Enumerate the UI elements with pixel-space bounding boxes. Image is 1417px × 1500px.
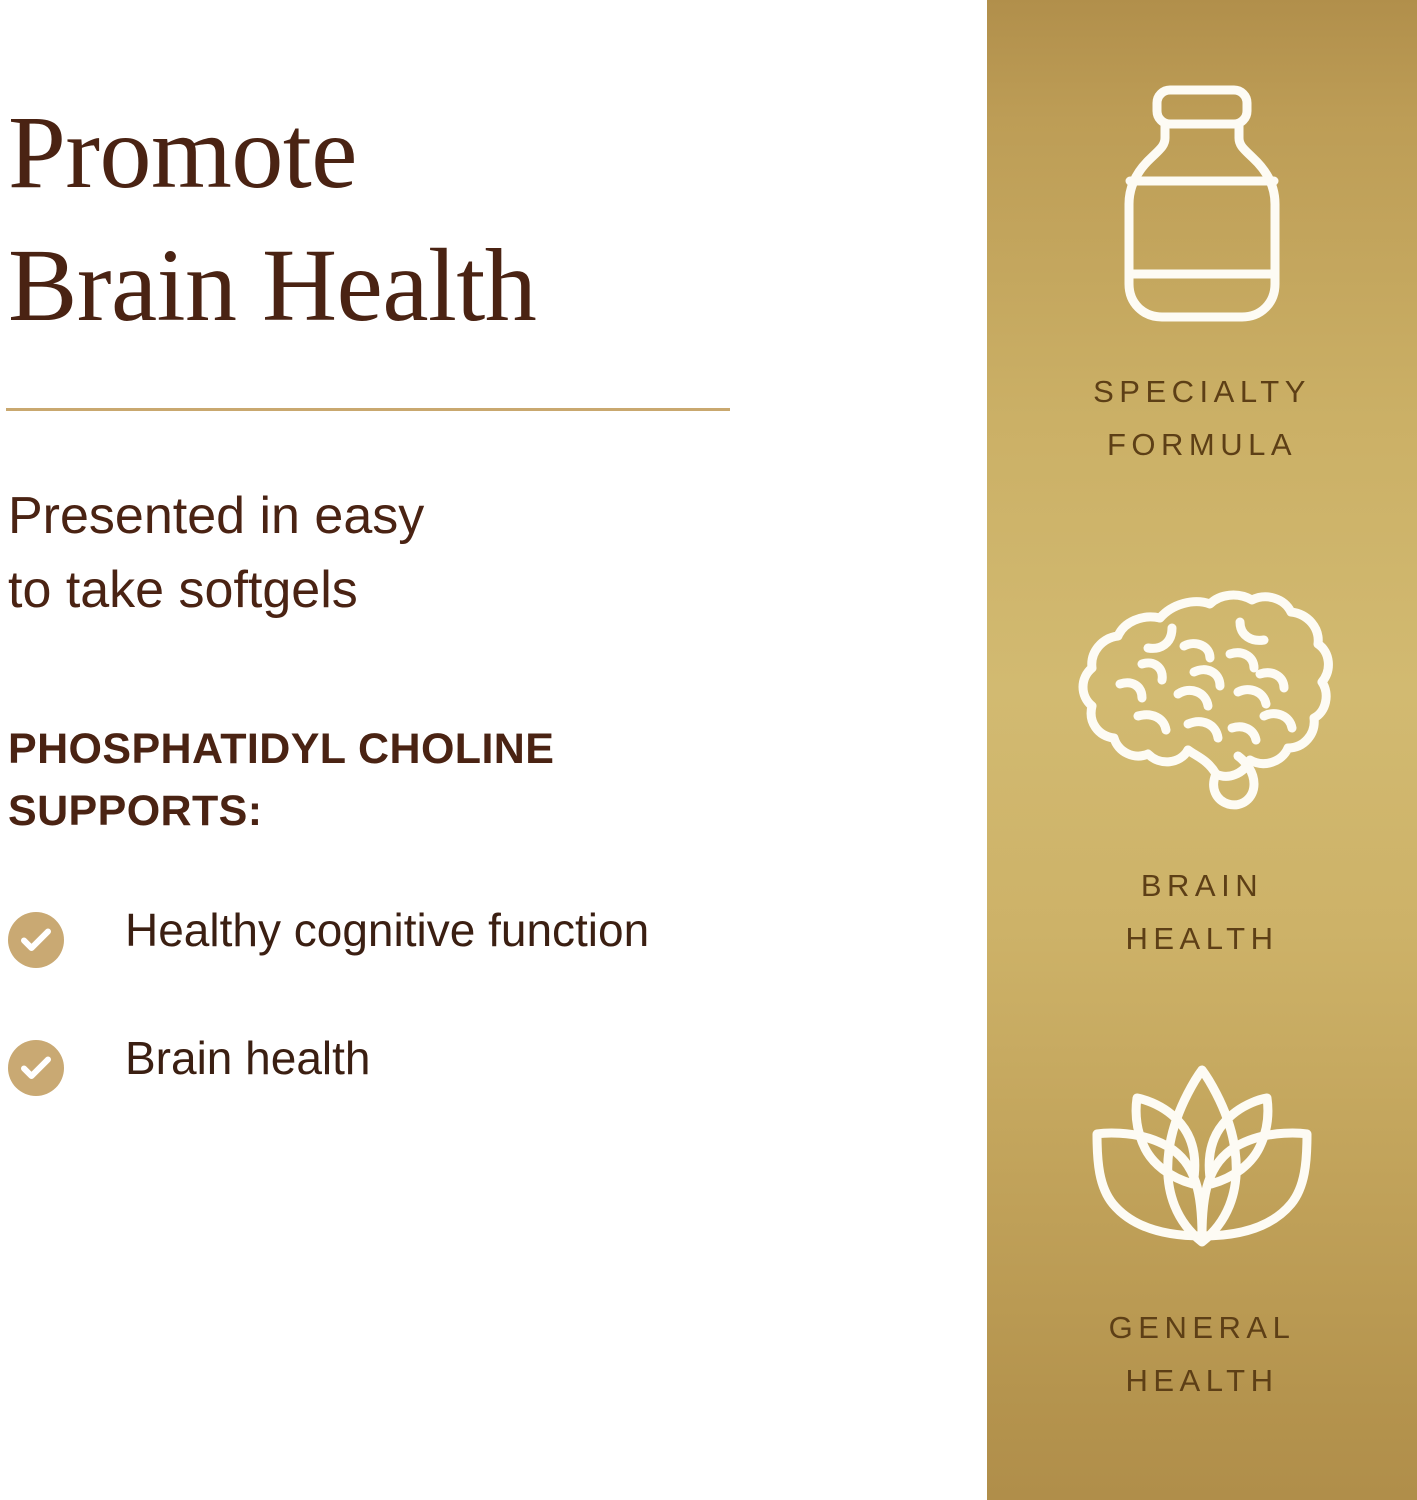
list-item-label: Brain health: [125, 1028, 868, 1086]
subheading-line-2: to take softgels: [8, 554, 768, 628]
sidebar-item-label: BRAIN HEALTH: [1125, 859, 1278, 966]
sidebar-item-label-line-1: GENERAL: [1109, 1301, 1296, 1354]
horizontal-divider: [6, 408, 730, 411]
sidebar-item-general-health: GENERAL HEALTH: [987, 1062, 1417, 1408]
subheading: Presented in easy to take softgels: [8, 480, 768, 628]
benefits-list: Healthy cognitive function Brain health: [8, 900, 868, 1156]
sidebar-item-label-line-2: HEALTH: [1125, 912, 1278, 965]
benefit-icons-sidebar: SPECIALTY FORMULA: [987, 0, 1417, 1500]
check-icon: [8, 1040, 64, 1096]
list-item: Healthy cognitive function: [8, 900, 868, 968]
supports-heading-line-2: SUPPORTS:: [8, 780, 808, 842]
page-title-line-1: Promote: [8, 86, 908, 219]
sidebar-item-label: SPECIALTY FORMULA: [1093, 365, 1311, 472]
list-item-label: Healthy cognitive function: [125, 900, 868, 958]
list-item: Brain health: [8, 1028, 868, 1096]
subheading-line-1: Presented in easy: [8, 480, 768, 554]
page-title: Promote Brain Health: [8, 86, 908, 352]
sidebar-item-specialty-formula: SPECIALTY FORMULA: [987, 84, 1417, 472]
sidebar-item-brain-health: BRAIN HEALTH: [987, 588, 1417, 966]
check-icon: [8, 912, 64, 968]
page-title-line-2: Brain Health: [8, 219, 908, 352]
sidebar-item-label: GENERAL HEALTH: [1109, 1301, 1296, 1408]
supports-heading: PHOSPHATIDYL CHOLINE SUPPORTS:: [8, 718, 808, 843]
lotus-flower-icon: [1089, 1062, 1315, 1257]
product-benefits-infographic: Promote Brain Health Presented in easy t…: [0, 0, 1417, 1500]
brain-icon: [1068, 588, 1336, 815]
sidebar-item-label-line-1: BRAIN: [1125, 859, 1278, 912]
sidebar-item-label-line-1: SPECIALTY: [1093, 365, 1311, 418]
sidebar-item-label-line-2: FORMULA: [1093, 418, 1311, 471]
left-content-column: Promote Brain Health Presented in easy t…: [0, 0, 987, 1500]
supplement-bottle-icon: [1113, 84, 1291, 329]
supports-heading-line-1: PHOSPHATIDYL CHOLINE: [8, 718, 808, 780]
sidebar-item-label-line-2: HEALTH: [1109, 1354, 1296, 1407]
